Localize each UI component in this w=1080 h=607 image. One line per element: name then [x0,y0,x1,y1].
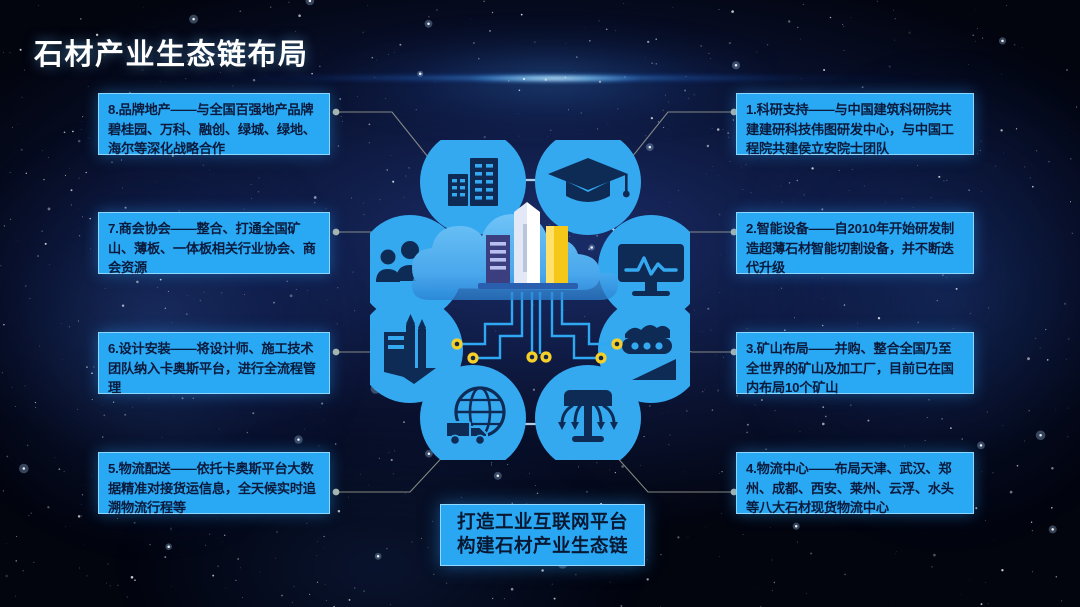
info-box-2[interactable]: 2.智能设备——自2010年开始研发制造超薄石材智能切割设备，并不断迭代升级 [736,212,974,274]
bottom-caption: 打造工业互联网平台 构建石材产业生态链 [440,504,645,566]
ecosystem-hub-graphic [370,140,690,460]
info-box-3-text: 3.矿山布局——并购、整合全国乃至全世界的矿山及加工厂，目前已在国内布局10个矿… [746,341,954,395]
cloud-building-center [527,202,540,285]
caption-line-1: 打造工业互联网平台 [445,510,640,534]
info-box-4-text: 4.物流中心——布局天津、武汉、郑州、成都、西安、莱州、云浮、水头等八大石材现货… [746,461,954,515]
caption-line-2: 构建石材产业生态链 [445,534,640,558]
info-box-8-text: 8.品牌地产——与全国百强地产品牌碧桂园、万科、融创、绿城、绿地、海尔等深化战略… [108,102,316,156]
info-box-1[interactable]: 1.科研支持——与中国建筑科研院共建建研科技伟图研发中心，与中国工程院共建侯立安… [736,93,974,155]
page-title: 石材产业生态链布局 [34,31,309,73]
info-box-8[interactable]: 8.品牌地产——与全国百强地产品牌碧桂园、万科、融创、绿城、绿地、海尔等深化战略… [98,93,330,155]
info-box-2-text: 2.智能设备——自2010年开始研发制造超薄石材智能切割设备，并不断迭代升级 [746,221,954,275]
slide-canvas: 石材产业生态链布局 [0,0,1080,607]
info-box-5-text: 5.物流配送——依托卡奥斯平台大数据精准对接货运信息，全天候实时追溯物流行程等 [108,461,316,515]
info-box-5[interactable]: 5.物流配送——依托卡奥斯平台大数据精准对接货运信息，全天候实时追溯物流行程等 [98,452,330,514]
info-box-6-text: 6.设计安装——将设计师、施工技术团队纳入卡奥斯平台，进行全流程管理 [108,341,316,395]
info-box-7[interactable]: 7.商会协会——整合、打通全国矿山、薄板、一体板相关行业协会、商会资源 [98,212,330,274]
info-box-1-text: 1.科研支持——与中国建筑科研院共建建研科技伟图研发中心，与中国工程院共建侯立安… [746,102,954,156]
circuit-traces [460,292,614,358]
info-box-7-text: 7.商会协会——整合、打通全国矿山、薄板、一体板相关行业协会、商会资源 [108,221,316,275]
info-box-3[interactable]: 3.矿山布局——并购、整合全国乃至全世界的矿山及加工厂，目前已在国内布局10个矿… [736,332,974,394]
info-box-6[interactable]: 6.设计安装——将设计师、施工技术团队纳入卡奥斯平台，进行全流程管理 [98,332,330,394]
info-box-4[interactable]: 4.物流中心——布局天津、武汉、郑州、成都、西安、莱州、云浮、水头等八大石材现货… [736,452,974,514]
circuit-nodes [451,338,622,363]
